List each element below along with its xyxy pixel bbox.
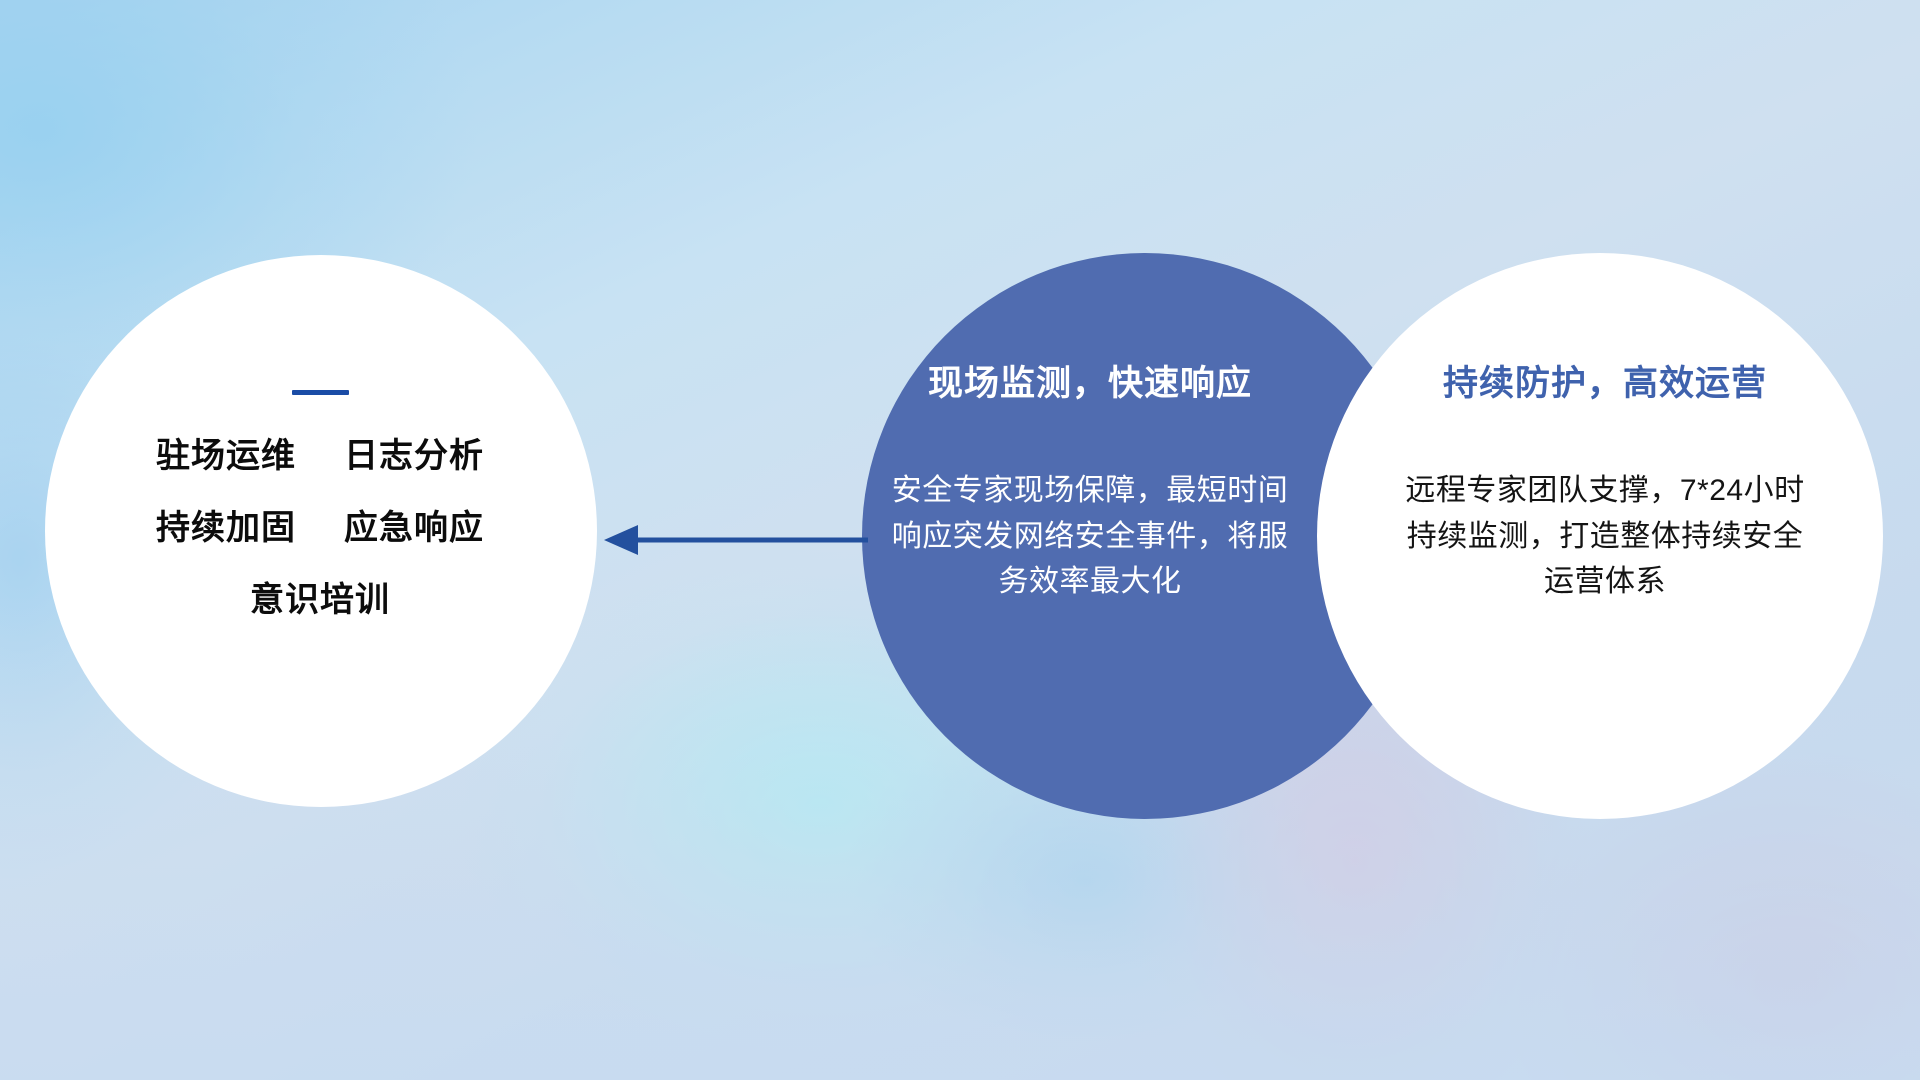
capability-tag[interactable]: 持续加固 (156, 511, 296, 545)
capability-tag[interactable]: 驻场运维 (156, 439, 296, 473)
onsite-monitoring-content: 现场监测，快速响应 安全专家现场保障，最短时间响应突发网络安全事件，将服务效率最… (880, 355, 1300, 605)
flow-arrow-left-icon (600, 516, 872, 564)
continuous-defense-content: 持续防护，高效运营 远程专家团队支撑，7*24小时持续监测，打造整体持续安全运营… (1395, 355, 1815, 605)
capability-row: 驻场运维 日志分析 (70, 439, 570, 473)
capability-row: 意识培训 (70, 583, 570, 617)
slide-canvas: 驻场运维 日志分析 持续加固 应急响应 意识培训 现场监测，快速响应 安全专家现… (0, 0, 1920, 1080)
capabilities-content: 驻场运维 日志分析 持续加固 应急响应 意识培训 (70, 390, 570, 617)
capability-tag[interactable]: 日志分析 (344, 439, 484, 473)
accent-dash-icon (292, 390, 349, 395)
onsite-monitoring-title: 现场监测，快速响应 (880, 355, 1300, 406)
onsite-monitoring-body: 安全专家现场保障，最短时间响应突发网络安全事件，将服务效率最大化 (880, 468, 1300, 605)
capability-row: 持续加固 应急响应 (70, 511, 570, 545)
capability-tag[interactable]: 意识培训 (250, 583, 390, 617)
capability-tag[interactable]: 应急响应 (344, 511, 484, 545)
continuous-defense-body: 远程专家团队支撑，7*24小时持续监测，打造整体持续安全运营体系 (1395, 468, 1815, 605)
continuous-defense-title: 持续防护，高效运营 (1395, 355, 1815, 406)
